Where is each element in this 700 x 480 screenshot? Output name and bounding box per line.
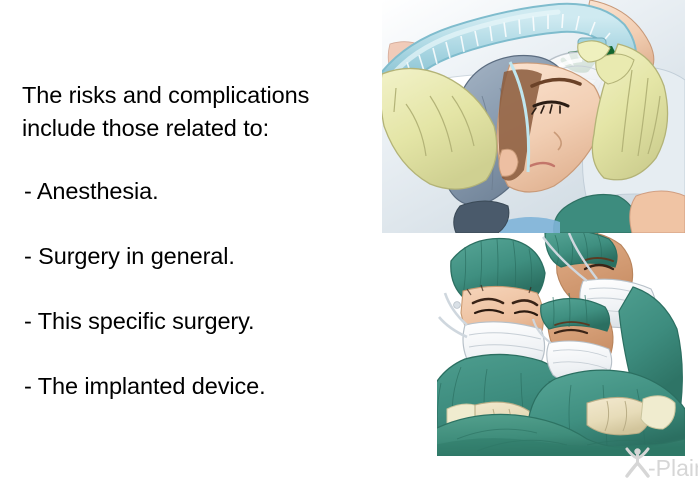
intro-paragraph: The risks and complications include thos… [22,79,374,145]
bullet-item-anesthesia: - Anesthesia. [24,176,376,241]
anesthesia-mask-illustration [382,0,685,233]
bullet-item-surgery-general: - Surgery in general. [24,241,376,306]
bullet-item-specific-surgery: - This specific surgery. [24,306,376,371]
x-plain-logo-text: -Plain [648,455,698,480]
bullet-item-implanted-device: - The implanted device. [24,371,376,436]
x-plain-logo: -Plain [620,446,698,480]
text-panel: The risks and complications include thos… [0,0,380,480]
risk-bullet-list: - Anesthesia. - Surgery in general. - Th… [24,176,376,436]
surgical-team-illustration [437,233,685,456]
x-plain-figure-icon [627,448,648,476]
slide-root: The risks and complications include thos… [0,0,700,480]
